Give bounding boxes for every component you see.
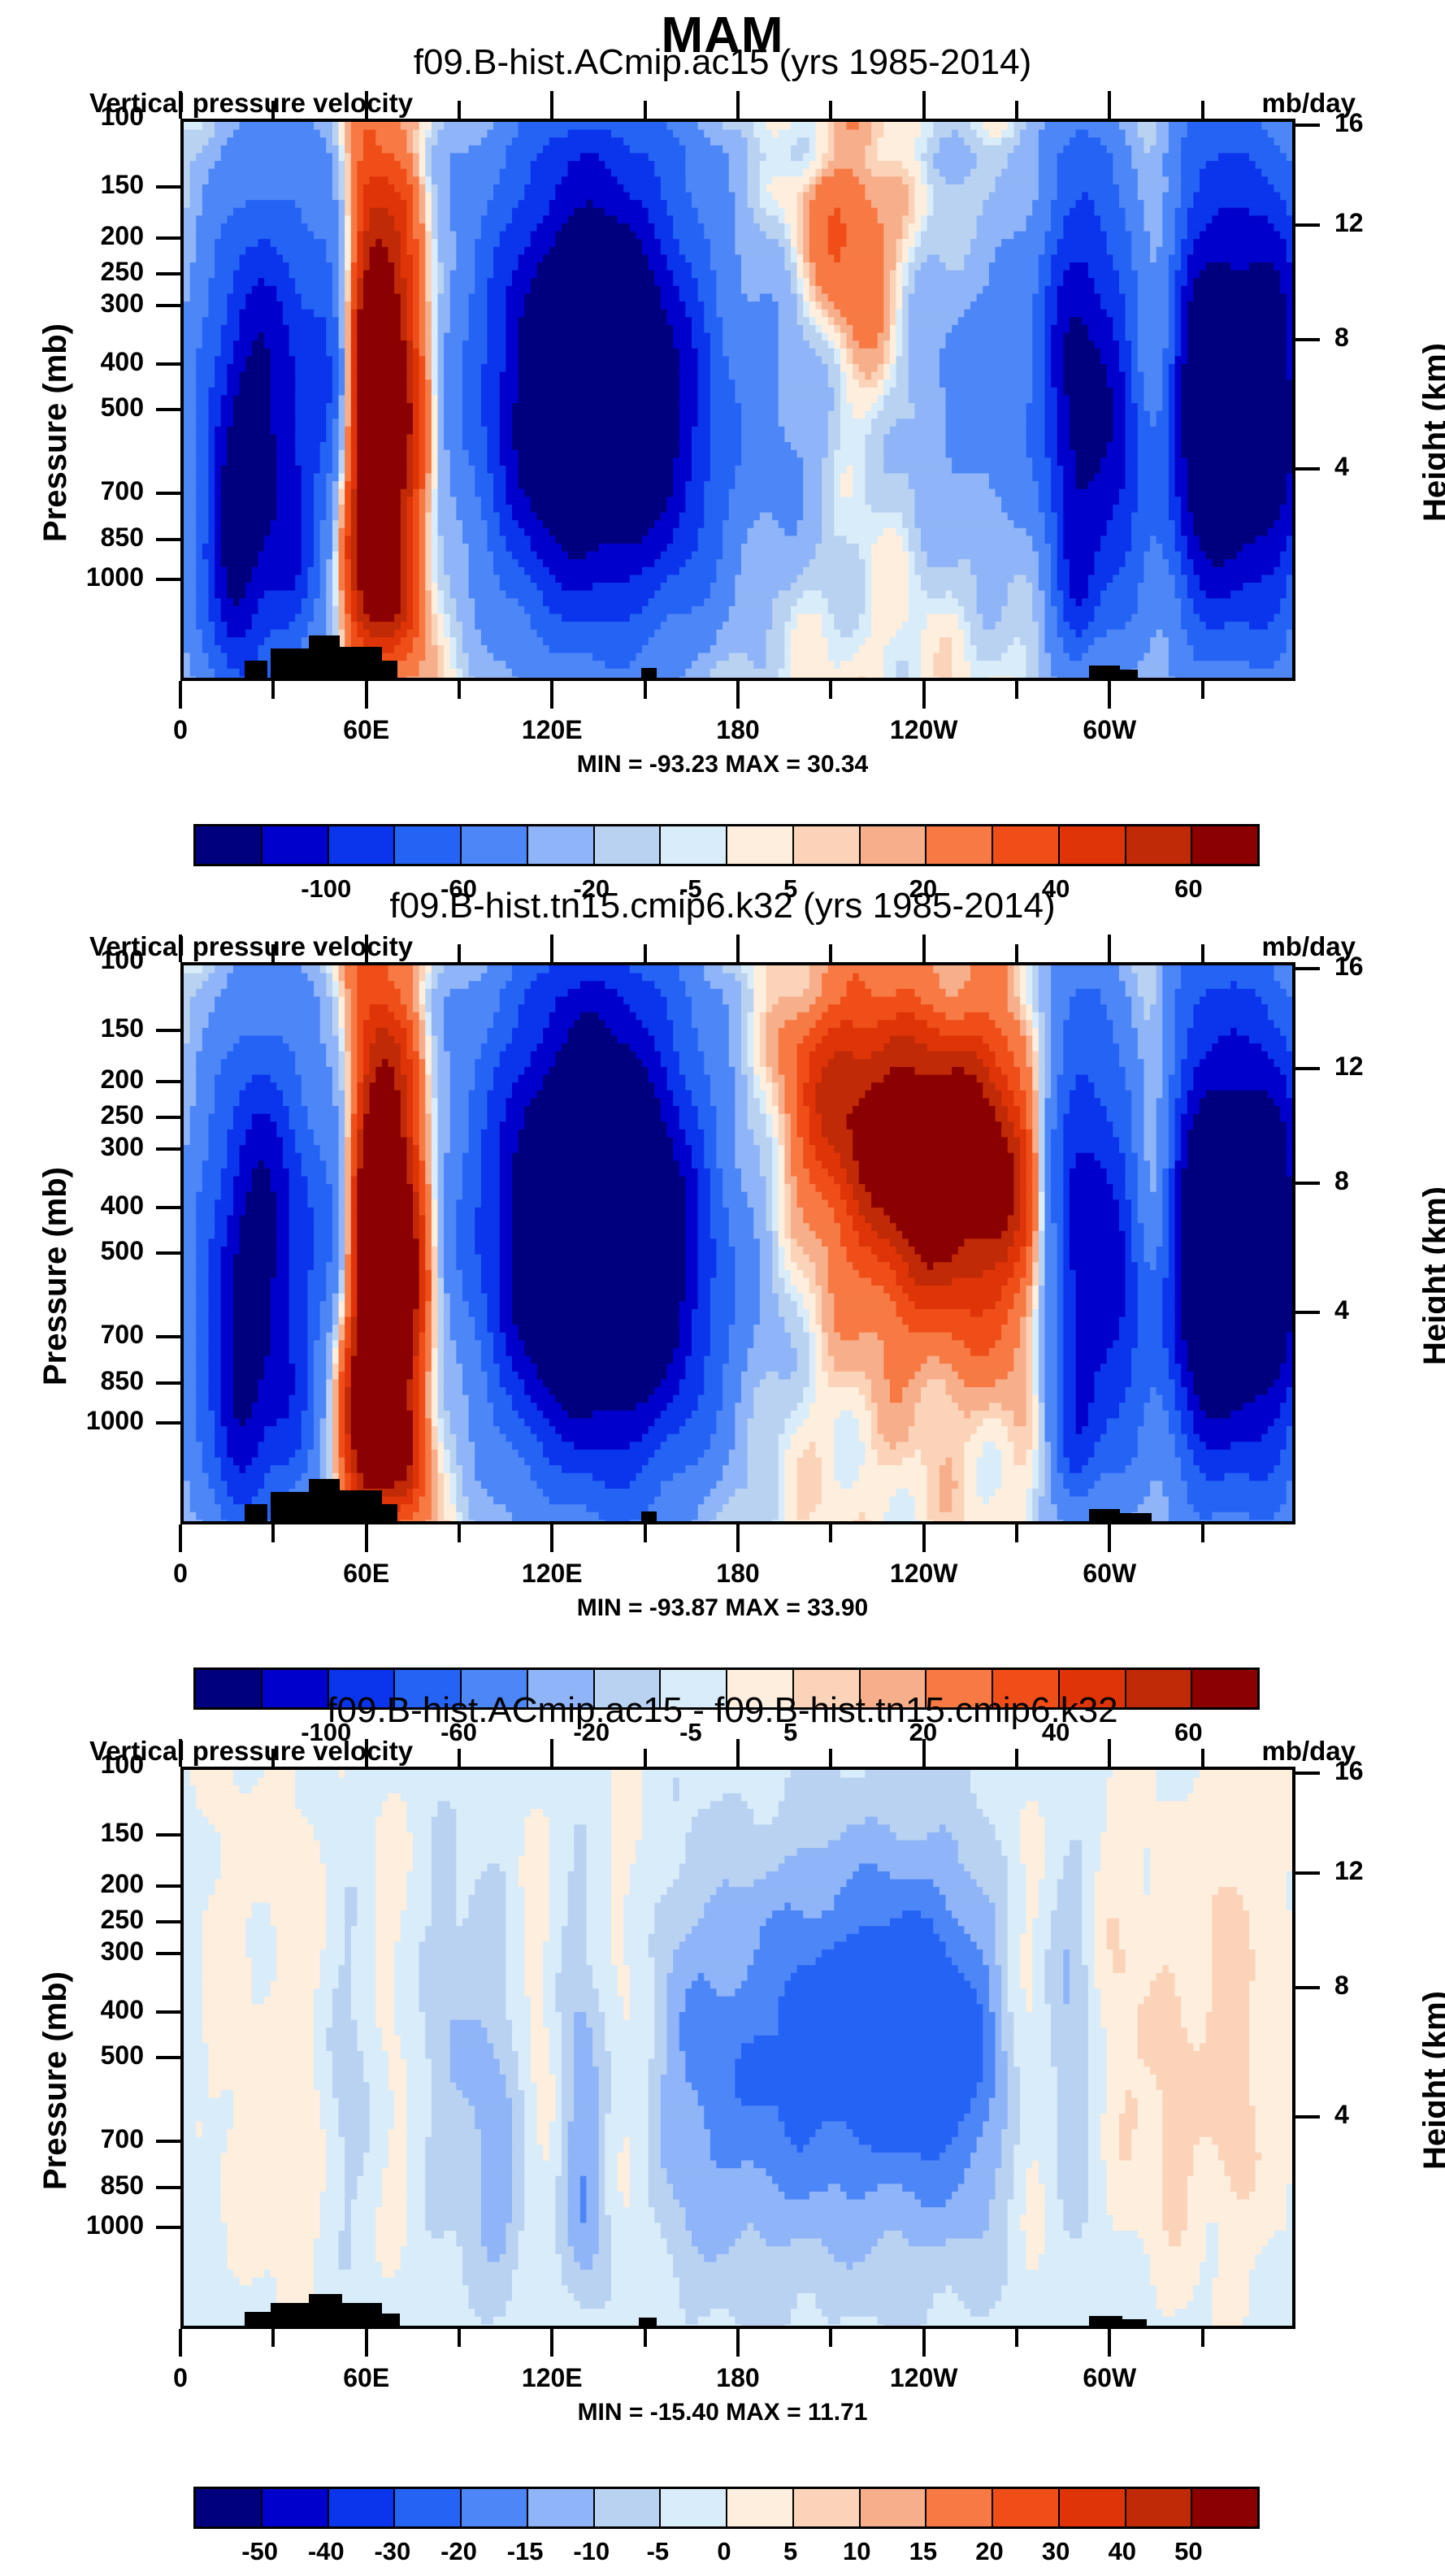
height-tick-mark bbox=[1295, 1986, 1320, 1989]
colorbar-swatch bbox=[926, 826, 993, 864]
pressure-tick-mark bbox=[156, 2140, 180, 2143]
pressure-tick-label: 300 bbox=[22, 1132, 144, 1162]
pressure-tick-label: 100 bbox=[22, 1750, 144, 1780]
contour-svg bbox=[184, 122, 1295, 681]
longitude-tick-label: 180 bbox=[673, 2363, 803, 2393]
longitude-tick-mark-bottom bbox=[736, 681, 740, 709]
topography-mask bbox=[1089, 666, 1120, 678]
topography-mask bbox=[271, 2303, 309, 2326]
pressure-tick-mark bbox=[156, 185, 180, 189]
longitude-tick-label: 120W bbox=[859, 2363, 989, 2393]
longitude-tick-mark-top bbox=[365, 1739, 368, 1767]
pressure-tick-mark bbox=[156, 1029, 180, 1032]
topography-mask bbox=[382, 1504, 397, 1521]
longitude-tick-mark-top bbox=[271, 944, 275, 962]
colorbar-tick-label: 30 bbox=[1042, 2537, 1070, 2566]
longitude-tick-mark-top bbox=[458, 1749, 461, 1767]
longitude-tick-mark-top bbox=[365, 91, 368, 119]
colorbar-tick-label: -5 bbox=[647, 2537, 670, 2566]
longitude-tick-mark-top bbox=[644, 1749, 647, 1767]
longitude-tick-mark-top bbox=[271, 101, 275, 119]
colorbar-swatch bbox=[1126, 826, 1193, 864]
pressure-tick-mark bbox=[156, 2186, 180, 2189]
pressure-tick-mark bbox=[156, 1116, 180, 1119]
topography-mask bbox=[382, 2314, 400, 2326]
longitude-tick-label: 60W bbox=[1044, 2363, 1174, 2393]
topography-mask bbox=[1120, 670, 1138, 678]
y-axis-right-title: Height (km) bbox=[1417, 1991, 1445, 2170]
colorbar-tick-label: 20 bbox=[975, 2537, 1003, 2566]
colorbar-swatch bbox=[263, 826, 329, 864]
longitude-tick-mark-top bbox=[550, 1739, 553, 1767]
topography-mask bbox=[342, 2303, 382, 2326]
topography-mask bbox=[309, 635, 340, 678]
longitude-tick-mark-top bbox=[829, 1749, 832, 1767]
height-tick-label: 4 bbox=[1334, 2100, 1408, 2130]
topography-mask bbox=[382, 661, 397, 678]
panel-2-plot-area bbox=[180, 962, 1295, 1524]
y-axis-left-title: Pressure (mb) bbox=[37, 1971, 74, 2190]
longitude-tick-mark-bottom bbox=[1108, 2329, 1111, 2357]
topography-mask bbox=[245, 2312, 271, 2326]
colorbar-tick-label: 10 bbox=[843, 2537, 870, 2566]
panel-1-plot-area bbox=[180, 119, 1295, 681]
panel-1-contour-field bbox=[184, 122, 1292, 678]
topography-mask bbox=[1120, 1513, 1151, 1521]
longitude-tick-mark-top bbox=[736, 1739, 740, 1767]
longitude-tick-mark-bottom bbox=[550, 1524, 553, 1552]
colorbar-swatch bbox=[196, 826, 263, 864]
longitude-tick-label: 120W bbox=[859, 1559, 989, 1589]
longitude-tick-mark-bottom bbox=[922, 2329, 926, 2357]
longitude-tick-mark-top bbox=[736, 935, 740, 962]
colorbar-swatch bbox=[794, 2489, 861, 2526]
height-tick-label: 8 bbox=[1334, 1971, 1408, 2001]
topography-mask bbox=[309, 1479, 340, 1521]
longitude-tick-label: 180 bbox=[673, 1559, 803, 1589]
pressure-tick-label: 150 bbox=[22, 1013, 144, 1043]
topography-mask bbox=[340, 647, 382, 678]
pressure-tick-label: 300 bbox=[22, 1936, 144, 1967]
longitude-tick-mark-top bbox=[1201, 101, 1204, 119]
pressure-tick-label: 1000 bbox=[22, 1406, 144, 1436]
pressure-tick-mark bbox=[156, 362, 180, 366]
longitude-tick-mark-bottom bbox=[644, 1524, 647, 1542]
height-tick-mark bbox=[1295, 338, 1320, 341]
longitude-tick-label: 120E bbox=[487, 1559, 617, 1589]
longitude-tick-mark-bottom bbox=[922, 681, 926, 709]
pressure-tick-label: 300 bbox=[22, 288, 144, 319]
y-axis-right-title: Height (km) bbox=[1417, 1186, 1445, 1365]
longitude-tick-mark-top bbox=[271, 1749, 275, 1767]
pressure-tick-label: 250 bbox=[22, 257, 144, 287]
colorbar-swatch bbox=[926, 2489, 993, 2526]
topography-mask bbox=[1089, 1509, 1120, 1521]
panel-2: f09.B-hist.tn15.cmip6.k32 (yrs 1985-2014… bbox=[0, 886, 1445, 1698]
longitude-tick-mark-top bbox=[829, 101, 832, 119]
panel-3-title: f09.B-hist.ACmip.ac15 - f09.B-hist.tn15.… bbox=[0, 1690, 1445, 1731]
height-tick-mark bbox=[1295, 1871, 1320, 1875]
longitude-tick-mark-top bbox=[922, 1739, 926, 1767]
longitude-tick-label: 60E bbox=[302, 2363, 432, 2393]
colorbar-tick-label: -10 bbox=[573, 2537, 610, 2566]
longitude-tick-mark-bottom bbox=[1201, 1524, 1204, 1542]
colorbar-swatch bbox=[395, 2489, 462, 2526]
longitude-tick-mark-bottom bbox=[365, 2329, 368, 2357]
longitude-tick-mark-bottom bbox=[736, 2329, 740, 2357]
height-tick-mark bbox=[1295, 1311, 1320, 1314]
longitude-tick-mark-bottom bbox=[458, 1524, 461, 1542]
pressure-tick-mark bbox=[156, 492, 180, 495]
longitude-tick-mark-top bbox=[736, 91, 740, 119]
longitude-tick-mark-bottom bbox=[271, 2329, 275, 2347]
pressure-tick-mark bbox=[156, 1381, 180, 1385]
topography-mask bbox=[639, 2318, 657, 2326]
colorbar-swatch bbox=[1060, 2489, 1126, 2526]
longitude-tick-mark-bottom bbox=[179, 681, 182, 709]
pressure-tick-mark bbox=[156, 538, 180, 541]
longitude-tick-mark-bottom bbox=[550, 681, 553, 709]
longitude-tick-mark-top bbox=[922, 91, 926, 119]
colorbar-swatch bbox=[196, 2489, 263, 2526]
longitude-tick-mark-bottom bbox=[550, 2329, 553, 2357]
longitude-tick-mark-top bbox=[1108, 91, 1111, 119]
longitude-tick-mark-bottom bbox=[458, 2329, 461, 2347]
height-tick-mark bbox=[1295, 467, 1320, 471]
pressure-tick-label: 150 bbox=[22, 1818, 144, 1848]
pressure-tick-mark bbox=[156, 2226, 180, 2229]
topography-mask bbox=[245, 1504, 267, 1521]
height-tick-label: 8 bbox=[1334, 323, 1408, 353]
longitude-tick-mark-top bbox=[550, 91, 553, 119]
pressure-tick-mark bbox=[156, 408, 180, 411]
height-tick-mark bbox=[1295, 1182, 1320, 1185]
colorbar-swatch bbox=[1126, 2489, 1193, 2526]
longitude-tick-mark-top bbox=[829, 944, 832, 962]
colorbar-swatch bbox=[329, 2489, 396, 2526]
pressure-tick-mark bbox=[156, 2056, 180, 2059]
longitude-tick-mark-bottom bbox=[1108, 681, 1111, 709]
longitude-tick-mark-bottom bbox=[644, 681, 647, 699]
colorbar-swatch bbox=[993, 2489, 1060, 2526]
pressure-tick-mark bbox=[156, 1884, 180, 1888]
topography-mask bbox=[641, 1511, 657, 1521]
topography-mask bbox=[271, 1492, 309, 1521]
colorbar-tick-label: 40 bbox=[1109, 2537, 1136, 2566]
contour-svg bbox=[184, 965, 1295, 1524]
height-tick-label: 4 bbox=[1334, 452, 1408, 482]
longitude-tick-mark-bottom bbox=[829, 2329, 832, 2347]
colorbar-swatches bbox=[193, 2487, 1260, 2529]
height-tick-label: 16 bbox=[1334, 1756, 1408, 1786]
height-tick-label: 8 bbox=[1334, 1166, 1408, 1196]
longitude-tick-mark-top bbox=[179, 935, 182, 962]
pressure-tick-mark bbox=[156, 1080, 180, 1083]
height-tick-mark bbox=[1295, 1067, 1320, 1070]
longitude-tick-label: 60W bbox=[1044, 715, 1174, 745]
pressure-tick-mark bbox=[156, 1421, 180, 1425]
colorbar-swatch bbox=[528, 2489, 595, 2526]
height-tick-label: 4 bbox=[1334, 1295, 1408, 1325]
panel-2-min-max-text: MIN = -93.87 MAX = 33.90 bbox=[0, 1594, 1445, 1622]
colorbar-swatch bbox=[727, 826, 794, 864]
colorbar-swatch bbox=[595, 826, 662, 864]
height-tick-label: 12 bbox=[1334, 1856, 1408, 1886]
height-tick-mark bbox=[1295, 223, 1320, 227]
panel-1-title: f09.B-hist.ACmip.ac15 (yrs 1985-2014) bbox=[0, 42, 1445, 83]
pressure-tick-mark bbox=[156, 272, 180, 275]
longitude-tick-mark-bottom bbox=[179, 2329, 182, 2357]
height-tick-mark bbox=[1295, 1772, 1320, 1775]
longitude-tick-label: 60E bbox=[302, 1559, 432, 1589]
longitude-tick-mark-bottom bbox=[271, 681, 275, 699]
colorbar-swatch bbox=[395, 826, 462, 864]
panel-3-plot-area bbox=[180, 1767, 1295, 2329]
longitude-tick-mark-top bbox=[1015, 101, 1018, 119]
colorbar-tick-label: -50 bbox=[241, 2537, 278, 2566]
longitude-tick-mark-top bbox=[644, 101, 647, 119]
pressure-tick-mark bbox=[156, 1920, 180, 1923]
colorbar-tick-label: -30 bbox=[374, 2537, 410, 2566]
pressure-tick-label: 200 bbox=[22, 1065, 144, 1095]
height-tick-label: 16 bbox=[1334, 108, 1408, 138]
colorbar-swatch bbox=[1060, 826, 1126, 864]
pressure-tick-mark bbox=[156, 1251, 180, 1255]
panel-2-title: f09.B-hist.tn15.cmip6.k32 (yrs 1985-2014… bbox=[0, 886, 1445, 926]
longitude-tick-mark-top bbox=[644, 944, 647, 962]
pressure-tick-label: 100 bbox=[22, 945, 144, 975]
longitude-tick-mark-bottom bbox=[1108, 1524, 1111, 1552]
topography-mask bbox=[309, 2294, 342, 2326]
colorbar-swatch bbox=[528, 826, 595, 864]
pressure-tick-mark bbox=[156, 236, 180, 240]
longitude-tick-mark-top bbox=[1108, 1739, 1111, 1767]
panel-3-colorbar[interactable]: -50-40-30-20-15-10-505101520304050 bbox=[193, 2487, 1255, 2576]
colorbar-tick-label: -15 bbox=[507, 2537, 544, 2566]
longitude-tick-mark-bottom bbox=[179, 1524, 182, 1552]
longitude-tick-label: 0 bbox=[115, 2363, 245, 2393]
pressure-tick-label: 250 bbox=[22, 1100, 144, 1130]
pressure-tick-label: 250 bbox=[22, 1905, 144, 1935]
height-tick-mark bbox=[1295, 124, 1320, 127]
longitude-tick-mark-top bbox=[458, 944, 461, 962]
height-tick-mark bbox=[1295, 2115, 1320, 2118]
colorbar-swatch bbox=[727, 2489, 794, 2526]
longitude-tick-mark-bottom bbox=[458, 681, 461, 699]
colorbar-swatch bbox=[263, 2489, 329, 2526]
longitude-tick-label: 60E bbox=[302, 715, 432, 745]
longitude-tick-mark-top bbox=[922, 935, 926, 962]
colorbar-swatch bbox=[595, 2489, 662, 2526]
longitude-tick-label: 120E bbox=[487, 715, 617, 745]
colorbar-swatch bbox=[1192, 2489, 1257, 2526]
pressure-tick-label: 100 bbox=[22, 102, 144, 132]
figure-root: MAM f09.B-hist.ACmip.ac15 (yrs 1985-2014… bbox=[0, 0, 1445, 2417]
colorbar-swatch bbox=[993, 826, 1060, 864]
topography-mask bbox=[340, 1490, 382, 1521]
colorbar-swatch bbox=[462, 826, 528, 864]
colorbar-swatch bbox=[462, 2489, 528, 2526]
topography-mask bbox=[1089, 2316, 1122, 2326]
y-axis-right-title: Height (km) bbox=[1417, 343, 1445, 522]
colorbar-swatches bbox=[193, 824, 1260, 866]
longitude-tick-mark-top bbox=[179, 91, 182, 119]
colorbar-tick-label: 50 bbox=[1174, 2537, 1202, 2566]
height-tick-label: 12 bbox=[1334, 1052, 1408, 1082]
y-axis-left-title: Pressure (mb) bbox=[37, 1167, 74, 1386]
pressure-tick-label: 1000 bbox=[22, 562, 144, 592]
longitude-tick-label: 180 bbox=[673, 715, 803, 745]
longitude-tick-mark-bottom bbox=[1015, 681, 1018, 699]
height-tick-label: 12 bbox=[1334, 208, 1408, 238]
colorbar-tick-label: -20 bbox=[440, 2537, 477, 2566]
pressure-tick-mark bbox=[156, 1147, 180, 1151]
colorbar-tick-label: -40 bbox=[308, 2537, 345, 2566]
longitude-tick-mark-bottom bbox=[271, 1524, 275, 1542]
topography-mask bbox=[1122, 2319, 1147, 2326]
longitude-tick-mark-top bbox=[458, 101, 461, 119]
topography-mask bbox=[245, 661, 267, 678]
panel-3: f09.B-hist.ACmip.ac15 - f09.B-hist.tn15.… bbox=[0, 1690, 1445, 2417]
pressure-tick-label: 200 bbox=[22, 221, 144, 251]
height-tick-mark bbox=[1295, 967, 1320, 970]
longitude-tick-label: 0 bbox=[115, 1559, 245, 1589]
pressure-tick-mark bbox=[156, 304, 180, 307]
longitude-tick-label: 120E bbox=[487, 2363, 617, 2393]
pressure-tick-label: 150 bbox=[22, 170, 144, 200]
longitude-tick-mark-bottom bbox=[922, 1524, 926, 1552]
longitude-tick-mark-top bbox=[179, 1739, 182, 1767]
longitude-tick-label: 120W bbox=[859, 715, 989, 745]
contour-svg bbox=[184, 1770, 1295, 2329]
panel-1: f09.B-hist.ACmip.ac15 (yrs 1985-2014) Ve… bbox=[0, 42, 1445, 855]
longitude-tick-label: 0 bbox=[115, 715, 245, 745]
panel-3-min-max-text: MIN = -15.40 MAX = 11.71 bbox=[0, 2399, 1445, 2426]
panel-3-contour-field bbox=[184, 1770, 1292, 2326]
colorbar-swatch bbox=[1192, 826, 1257, 864]
pressure-tick-mark bbox=[156, 1206, 180, 1209]
longitude-tick-mark-bottom bbox=[1015, 2329, 1018, 2347]
colorbar-tick-label: 15 bbox=[909, 2537, 937, 2566]
longitude-tick-mark-bottom bbox=[1015, 1524, 1018, 1542]
colorbar-tick-label: 0 bbox=[717, 2537, 731, 2566]
pressure-tick-label: 1000 bbox=[22, 2210, 144, 2240]
longitude-tick-mark-top bbox=[550, 935, 553, 962]
longitude-tick-mark-bottom bbox=[1201, 681, 1204, 699]
panel-2-contour-field bbox=[184, 965, 1292, 1521]
longitude-tick-mark-bottom bbox=[829, 681, 832, 699]
topography-mask bbox=[271, 648, 309, 678]
topography-mask bbox=[641, 668, 657, 678]
pressure-tick-label: 200 bbox=[22, 1869, 144, 1899]
colorbar-tick-label: 5 bbox=[783, 2537, 797, 2566]
colorbar-swatch bbox=[861, 826, 927, 864]
pressure-tick-mark bbox=[156, 578, 180, 581]
longitude-tick-mark-top bbox=[1201, 944, 1204, 962]
longitude-tick-mark-bottom bbox=[365, 681, 368, 709]
longitude-tick-mark-bottom bbox=[736, 1524, 740, 1552]
longitude-tick-mark-top bbox=[1201, 1749, 1204, 1767]
longitude-tick-mark-bottom bbox=[1201, 2329, 1204, 2347]
colorbar-swatch bbox=[661, 2489, 727, 2526]
colorbar-swatch bbox=[661, 826, 727, 864]
longitude-tick-mark-top bbox=[1015, 1749, 1018, 1767]
pressure-tick-mark bbox=[156, 2010, 180, 2014]
colorbar-swatch bbox=[329, 826, 396, 864]
longitude-tick-mark-bottom bbox=[644, 2329, 647, 2347]
colorbar-swatch bbox=[794, 826, 861, 864]
longitude-tick-mark-bottom bbox=[829, 1524, 832, 1542]
longitude-tick-mark-bottom bbox=[365, 1524, 368, 1552]
pressure-tick-mark bbox=[156, 1335, 180, 1338]
pressure-tick-mark bbox=[156, 1952, 180, 1955]
panel-1-min-max-text: MIN = -93.23 MAX = 30.34 bbox=[0, 751, 1445, 778]
longitude-tick-mark-top bbox=[1015, 944, 1018, 962]
height-tick-label: 16 bbox=[1334, 952, 1408, 982]
pressure-tick-mark bbox=[156, 1833, 180, 1837]
longitude-tick-mark-top bbox=[365, 935, 368, 962]
y-axis-left-title: Pressure (mb) bbox=[37, 323, 74, 542]
longitude-tick-label: 60W bbox=[1044, 1559, 1174, 1589]
longitude-tick-mark-top bbox=[1108, 935, 1111, 962]
colorbar-swatch bbox=[861, 2489, 927, 2526]
